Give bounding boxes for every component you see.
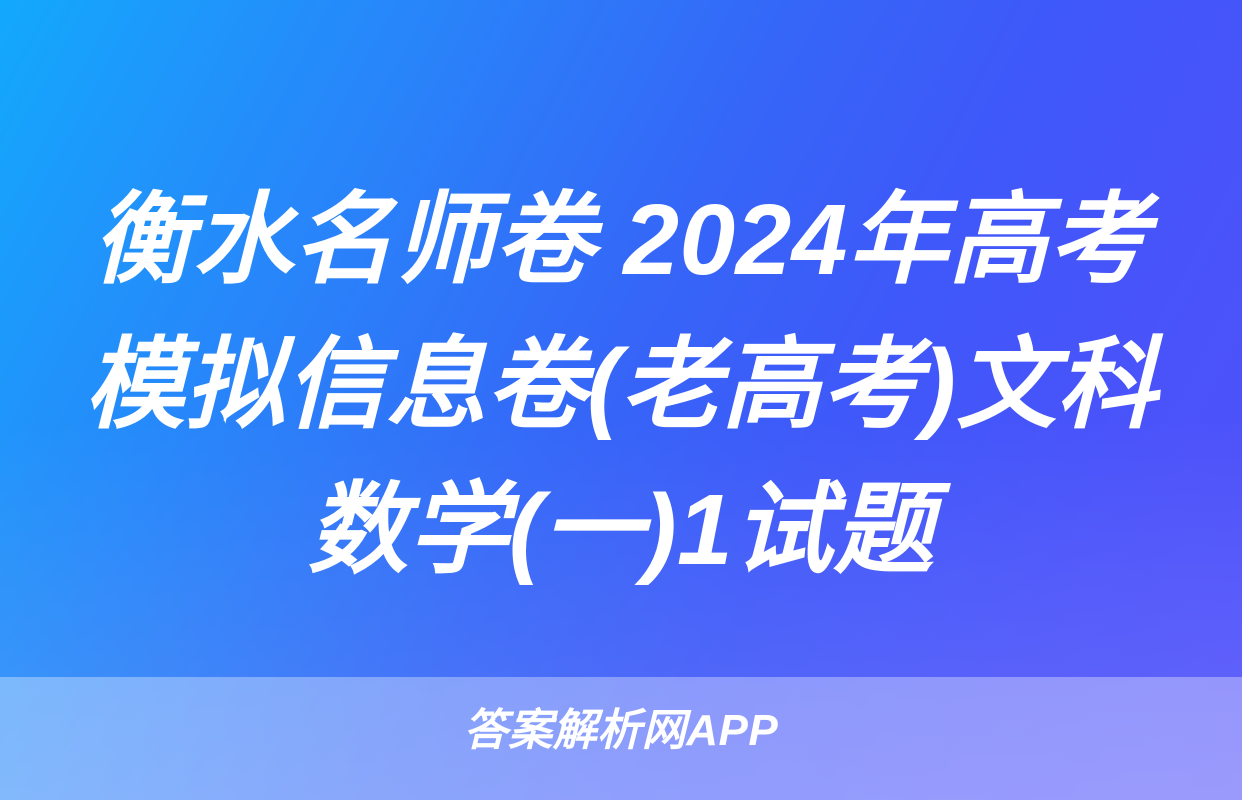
- title-line-1: 衡水名师卷 2024年高考: [40, 168, 1202, 313]
- brand-label: 答案解析网APP: [464, 705, 778, 757]
- footer-brand-band: 答案解析网APP: [0, 677, 1242, 800]
- title-line-2: 模拟信息卷(老高考)文科: [40, 313, 1202, 458]
- title-line-3: 数学(一)1试题: [40, 458, 1202, 603]
- promo-card: 衡水名师卷 2024年高考 模拟信息卷(老高考)文科 数学(一)1试题 答案解析…: [0, 0, 1242, 800]
- page-title: 衡水名师卷 2024年高考 模拟信息卷(老高考)文科 数学(一)1试题: [0, 168, 1242, 603]
